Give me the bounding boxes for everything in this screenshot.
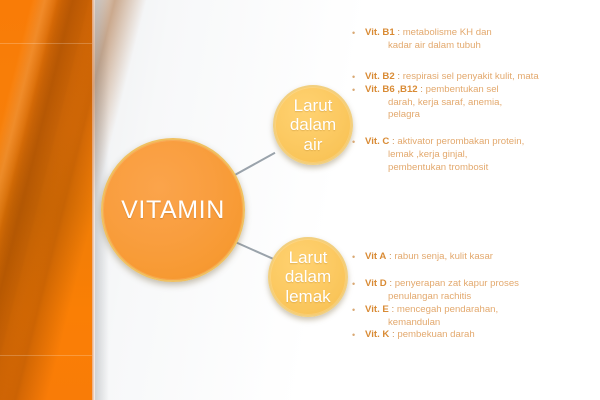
list-item-text: Vit. C : aktivator perombakan protein, [365, 136, 598, 149]
list-item-text: Vit. K : pembekuan darah [365, 329, 598, 342]
vitamin-description: pembentukan sel [426, 84, 499, 95]
node-larut-dalam-lemak[interactable]: Larut dalam lemak [268, 237, 348, 317]
list-item-continuation: darah, kerja saraf, anemia, [352, 97, 598, 110]
list-item-text: Vit. B6 ,B12 : pembentukan sel [365, 84, 598, 97]
node-air-line3: air [304, 135, 323, 154]
list-item-text: Vit. B2 : respirasi sel penyakit kulit, … [365, 71, 598, 84]
vitamin-term: Vit. B6 ,B12 [365, 84, 418, 95]
connector-root-to-air [233, 152, 276, 177]
vitamin-term: Vit. C [365, 136, 389, 147]
node-larut-dalam-air[interactable]: Larut dalam air [273, 85, 353, 165]
term-separator: : [389, 304, 397, 315]
node-lemak-line3: lemak [285, 287, 330, 306]
list-item: • Vit. B6 ,B12 : pembentukan sel [352, 84, 598, 97]
term-separator: : [395, 71, 403, 82]
list-item-text: Vit D : penyerapan zat kapur proses [365, 278, 598, 291]
list-item-text: Vit A : rabun senja, kulit kasar [365, 251, 598, 264]
node-vitamin-root[interactable]: VITAMIN [101, 138, 245, 282]
list-item-text: Vit. B1 : metabolisme KH dan [365, 27, 598, 40]
bullet-icon: • [352, 304, 365, 317]
vitamin-term: Vit. B1 [365, 27, 395, 38]
node-air-line1: Larut [294, 96, 333, 115]
list-item-continuation: penulangan rachitis [352, 291, 598, 304]
spacer [352, 53, 598, 71]
band-highlight-bottom [0, 355, 92, 356]
list-item-continuation: kadar air dalam tubuh [352, 40, 598, 53]
list-item: • Vit. C : aktivator perombakan protein, [352, 136, 598, 149]
fat-soluble-vitamin-list: • Vit A : rabun senja, kulit kasar • Vit… [352, 251, 598, 343]
bullet-icon: • [352, 278, 365, 291]
node-air-line2: dalam [290, 115, 336, 134]
vitamin-term: Vit. E [365, 304, 389, 315]
list-item-continuation: kemandulan [352, 317, 598, 330]
vitamin-description: aktivator perombakan protein, [397, 136, 524, 147]
vitamin-term: Vit A [365, 251, 386, 262]
spacer [352, 122, 598, 136]
list-item: • Vit D : penyerapan zat kapur proses [352, 278, 598, 291]
list-item: • Vit A : rabun senja, kulit kasar [352, 251, 598, 264]
bullet-icon: • [352, 84, 365, 97]
left-orange-band [0, 0, 92, 400]
node-larut-dalam-lemak-label: Larut dalam lemak [285, 248, 331, 305]
list-item: • Vit. E : mencegah pendarahan, [352, 304, 598, 317]
list-item-continuation: pelagra [352, 109, 598, 122]
node-vitamin-root-label: VITAMIN [121, 196, 225, 224]
vitamin-term: Vit. B2 [365, 71, 395, 82]
bullet-icon: • [352, 27, 365, 40]
vitamin-description: mencegah pendarahan, [397, 304, 498, 315]
vitamin-description: respirasi sel penyakit kulit, mata [403, 71, 539, 82]
vitamin-term: Vit. K [365, 329, 389, 340]
node-lemak-line1: Larut [289, 248, 328, 267]
list-item-text: Vit. E : mencegah pendarahan, [365, 304, 598, 317]
term-separator: : [387, 278, 395, 289]
list-item: • Vit. B2 : respirasi sel penyakit kulit… [352, 71, 598, 84]
bullet-icon: • [352, 251, 365, 264]
vitamin-description: rabun senja, kulit kasar [394, 251, 493, 262]
list-item: • Vit. K : pembekuan darah [352, 329, 598, 342]
vitamin-term: Vit D [365, 278, 387, 289]
water-soluble-vitamin-list: • Vit. B1 : metabolisme KH dan kadar air… [352, 27, 598, 174]
bullet-icon: • [352, 136, 365, 149]
bullet-icon: • [352, 329, 365, 342]
spacer [352, 264, 598, 278]
vitamin-description: penyerapan zat kapur proses [395, 278, 519, 289]
bullet-icon: • [352, 71, 365, 84]
vitamin-description: pembekuan darah [397, 329, 474, 340]
term-separator: : [418, 84, 426, 95]
term-separator: : [395, 27, 403, 38]
list-item: • Vit. B1 : metabolisme KH dan [352, 27, 598, 40]
node-lemak-line2: dalam [285, 267, 331, 286]
list-item-continuation: lemak ,kerja ginjal, [352, 149, 598, 162]
slide-canvas: VITAMIN Larut dalam air Larut dalam lema… [0, 0, 600, 400]
vitamin-description: metabolisme KH dan [403, 27, 492, 38]
node-larut-dalam-air-label: Larut dalam air [290, 96, 336, 153]
list-item-continuation: pembentukan trombosit [352, 162, 598, 175]
band-highlight-top [0, 43, 92, 44]
